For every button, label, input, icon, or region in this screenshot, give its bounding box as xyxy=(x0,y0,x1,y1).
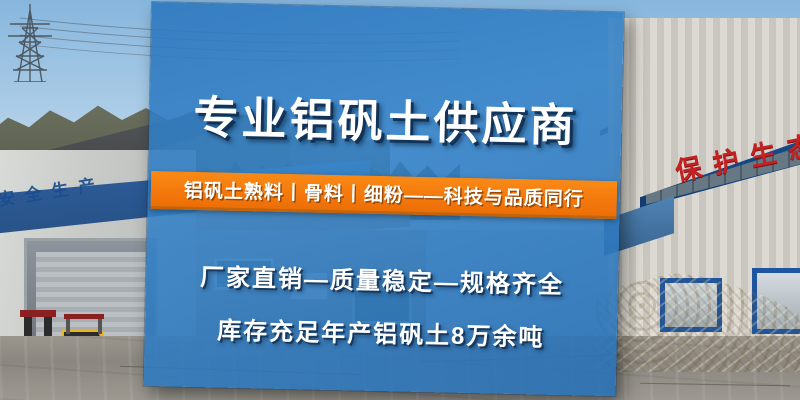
subtitle-line-1: 厂家直销—质量稳定—规格齐全 xyxy=(146,256,619,301)
tagline-band: 铝矾土熟料丨骨料丨细粉——科技与品质同行 xyxy=(150,171,617,219)
tagline-text: 铝矾土熟料丨骨料丨细粉——科技与品质同行 xyxy=(184,176,585,212)
subtitle-group: 厂家直销—质量稳定—规格齐全 库存充足年产铝矾土8万余吨 xyxy=(144,256,618,372)
banner-image: 安全生产 保护生态 xyxy=(0,0,800,400)
page-title: 专业铝矾土供应商 xyxy=(149,80,622,155)
subtitle-line-2: 库存充足年产铝矾土8万余吨 xyxy=(145,309,618,354)
blue-overlay-panel: 专业铝矾土供应商 铝矾土熟料丨骨料丨细粉——科技与品质同行 厂家直销—质量稳定—… xyxy=(144,2,624,396)
transmission-tower xyxy=(4,4,56,82)
panel-content: 专业铝矾土供应商 铝矾土熟料丨骨料丨细粉——科技与品质同行 厂家直销—质量稳定—… xyxy=(144,2,624,396)
